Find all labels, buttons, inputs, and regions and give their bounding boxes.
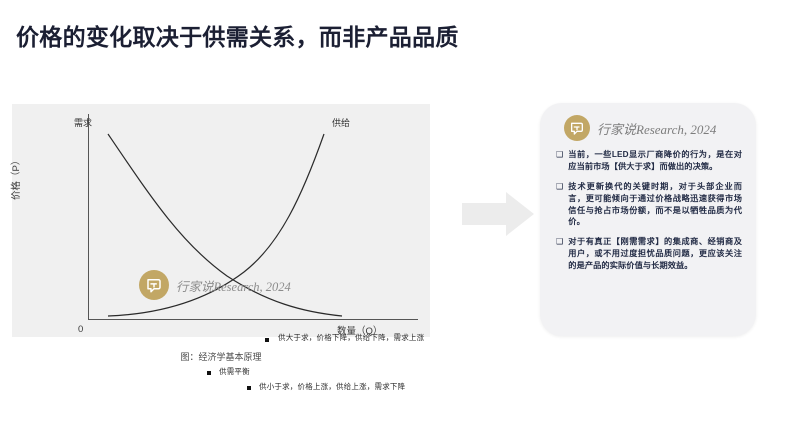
watermark-text: 行家说Research, 2024 [176, 276, 291, 295]
slide-root: 价格的变化取决于供需关系，而非产品品质 价格（P） 0 数量（Q） 需求 供给 … [0, 0, 800, 421]
page-title: 价格的变化取决于供需关系，而非产品品质 [16, 18, 776, 52]
watermark-text: 行家说Research, 2024 [597, 119, 716, 138]
chart-watermark: 行家说Research, 2024 [139, 270, 291, 300]
conclusions-panel: 行家说Research, 2024 ❑ 当前，一些LED显示厂商降价的行为，是在… [540, 103, 756, 336]
bullet-marker-icon: ❑ [556, 181, 563, 229]
equilibrium-point-marker [207, 371, 211, 375]
list-item-text: 技术更新换代的关键时期，对于头部企业而言，更可能倾向于通过价格战略迅速获得市场信… [568, 181, 742, 229]
shortage-point-marker [247, 386, 251, 390]
chart-caption: 图：经济学基本原理 [12, 350, 430, 363]
list-item: ❑ 对于有真正【刚需需求】的集成商、经销商及用户，或不用过度担忧品质问题，更应该… [556, 236, 742, 272]
surplus-annotation: 供大于求，价格下降，供给下降，需求上涨 [278, 332, 424, 343]
bullet-marker-icon: ❑ [556, 149, 563, 173]
surplus-point-marker [265, 338, 269, 342]
demand-curve-label: 需求 [74, 116, 92, 129]
equilibrium-annotation: 供需平衡 [219, 366, 250, 377]
hangjiashuo-logo-icon [139, 270, 169, 300]
chart-panel: 价格（P） 0 数量（Q） 需求 供给 供大于求，价格下降，供给下降，需求上涨 … [12, 104, 430, 337]
conclusions-watermark: 行家说Research, 2024 [540, 103, 756, 147]
bullet-marker-icon: ❑ [556, 236, 563, 272]
right-arrow-icon [458, 188, 538, 240]
supply-curve-label: 供给 [332, 116, 350, 129]
hangjiashuo-logo-icon [564, 115, 590, 141]
chart-curves [12, 104, 430, 337]
list-item: ❑ 当前，一些LED显示厂商降价的行为，是在对应当前市场【供大于求】而做出的决策… [556, 149, 742, 173]
list-item-text: 当前，一些LED显示厂商降价的行为，是在对应当前市场【供大于求】而做出的决策。 [568, 149, 742, 173]
conclusions-list: ❑ 当前，一些LED显示厂商降价的行为，是在对应当前市场【供大于求】而做出的决策… [540, 147, 756, 272]
list-item: ❑ 技术更新换代的关键时期，对于头部企业而言，更可能倾向于通过价格战略迅速获得市… [556, 181, 742, 229]
shortage-annotation: 供小于求，价格上涨，供给上涨，需求下降 [259, 381, 405, 392]
list-item-text: 对于有真正【刚需需求】的集成商、经销商及用户，或不用过度担忧品质问题，更应该关注… [568, 236, 742, 272]
